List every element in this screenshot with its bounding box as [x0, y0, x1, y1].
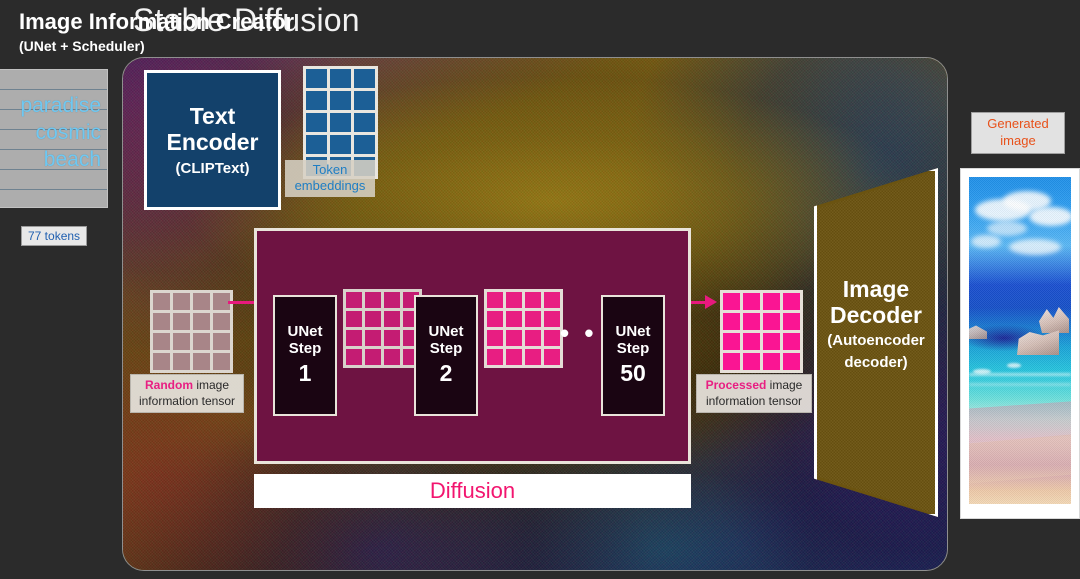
grid-cell — [193, 333, 210, 350]
grid-cell — [173, 313, 190, 330]
text-encoder-subtitle: (CLIPText) — [176, 160, 250, 177]
grid-cell — [153, 293, 170, 310]
text-encoder-block: Text Encoder (CLIPText) — [144, 70, 281, 210]
grid-cell — [506, 330, 522, 346]
grid-cell — [153, 333, 170, 350]
grid-cell — [763, 313, 780, 330]
unet-step-2-block: UNet Step 2 — [414, 295, 478, 416]
grid-cell — [743, 333, 760, 350]
grid-cell — [763, 333, 780, 350]
unet-step-1-line2: Step — [289, 341, 322, 358]
grid-cell — [213, 313, 230, 330]
grid-cell — [384, 330, 400, 346]
generated-image-frame — [960, 168, 1080, 519]
flow-arrow-head-icon — [705, 295, 717, 309]
grid-cell — [783, 313, 800, 330]
grid-cell — [723, 333, 740, 350]
text-encoder-line1: Text — [190, 103, 236, 129]
grid-cell — [723, 353, 740, 370]
image-decoder-subtitle1: (Autoencoder — [814, 332, 938, 349]
grid-cell — [173, 333, 190, 350]
intermediate-tensor-1-grid — [343, 289, 422, 368]
grid-cell — [153, 353, 170, 370]
grid-cell — [306, 135, 327, 154]
grid-cell — [783, 353, 800, 370]
diffusion-label: Diffusion — [430, 478, 515, 504]
grid-cell — [306, 69, 327, 88]
random-tensor-grid — [150, 290, 233, 373]
grid-cell — [544, 349, 560, 365]
image-decoder-block: Image Decoder (Autoencoder decoder) — [814, 168, 938, 517]
grid-cell — [506, 311, 522, 327]
unet-step-2-line2: Step — [430, 341, 463, 358]
grid-cell — [354, 91, 375, 110]
grid-cell — [723, 293, 740, 310]
tokens-badge: 77 tokens — [21, 226, 87, 246]
diagram-canvas: Stable Diffusion paradise cosmic beach 7… — [0, 0, 1080, 579]
processed-tensor-grid — [720, 290, 803, 373]
grid-cell — [173, 353, 190, 370]
grid-cell — [193, 313, 210, 330]
grid-cell — [487, 311, 503, 327]
grid-cell — [525, 349, 541, 365]
intermediate-tensor-2-grid — [484, 289, 563, 368]
grid-cell — [525, 330, 541, 346]
grid-cell — [544, 330, 560, 346]
unet-step-50-block: UNet Step 50 — [601, 295, 665, 416]
random-tensor-label: Random image information tensor — [130, 374, 244, 413]
text-encoder-line2: Encoder — [166, 129, 258, 155]
grid-cell — [153, 313, 170, 330]
grid-cell — [354, 69, 375, 88]
grid-cell — [346, 292, 362, 308]
grid-cell — [384, 349, 400, 365]
image-decoder-text: Image Decoder (Autoencoder decoder) — [814, 276, 938, 371]
grid-cell — [763, 353, 780, 370]
diffusion-bar: Diffusion — [254, 474, 691, 508]
image-decoder-line2: Decoder — [814, 302, 938, 328]
grid-cell — [330, 91, 351, 110]
processed-tensor-label-bold: Processed — [706, 378, 767, 392]
grid-cell — [354, 113, 375, 132]
grid-cell — [365, 330, 381, 346]
grid-cell — [213, 353, 230, 370]
grid-cell — [783, 293, 800, 310]
random-tensor-label-bold: Random — [145, 378, 193, 392]
image-dither-overlay — [969, 177, 1071, 504]
grid-cell — [346, 311, 362, 327]
grid-cell — [743, 313, 760, 330]
grid-cell — [306, 113, 327, 132]
iic-title: Image Information Creator — [19, 9, 294, 35]
grid-cell — [330, 135, 351, 154]
prompt-text: paradise cosmic beach — [20, 92, 101, 173]
token-embeddings-label: Token embeddings — [285, 160, 375, 197]
grid-cell — [330, 69, 351, 88]
grid-cell — [487, 330, 503, 346]
grid-cell — [365, 292, 381, 308]
grid-cell — [330, 113, 351, 132]
grid-cell — [354, 135, 375, 154]
unet-step-1-line1: UNet — [287, 324, 322, 341]
iic-subtitle: (UNet + Scheduler) — [19, 38, 145, 54]
grid-cell — [783, 333, 800, 350]
grid-cell — [193, 293, 210, 310]
grid-cell — [743, 293, 760, 310]
grid-cell — [365, 311, 381, 327]
grid-cell — [346, 349, 362, 365]
generated-image-label: Generated image — [971, 112, 1065, 154]
grid-cell — [384, 311, 400, 327]
grid-cell — [384, 292, 400, 308]
prompt-notepad: paradise cosmic beach — [0, 69, 108, 208]
unet-step-1-block: UNet Step 1 — [273, 295, 337, 416]
grid-cell — [743, 353, 760, 370]
grid-cell — [306, 91, 327, 110]
grid-cell — [213, 333, 230, 350]
grid-cell — [365, 349, 381, 365]
unet-step-50-number: 50 — [620, 360, 646, 387]
grid-cell — [346, 330, 362, 346]
grid-cell — [487, 349, 503, 365]
image-decoder-line1: Image — [814, 276, 938, 302]
image-decoder-subtitle2: decoder) — [814, 354, 938, 371]
grid-cell — [544, 311, 560, 327]
unet-step-50-line1: UNet — [615, 324, 650, 341]
unet-step-1-number: 1 — [299, 360, 312, 387]
grid-cell — [525, 292, 541, 308]
grid-cell — [506, 349, 522, 365]
processed-tensor-label: Processed image information tensor — [696, 374, 812, 413]
grid-cell — [173, 293, 190, 310]
grid-cell — [193, 353, 210, 370]
unet-step-50-line2: Step — [617, 341, 650, 358]
unet-step-2-number: 2 — [440, 360, 453, 387]
grid-cell — [544, 292, 560, 308]
grid-cell — [506, 292, 522, 308]
grid-cell — [723, 313, 740, 330]
grid-cell — [763, 293, 780, 310]
unet-step-2-line1: UNet — [428, 324, 463, 341]
grid-cell — [525, 311, 541, 327]
generated-image — [969, 177, 1071, 504]
grid-cell — [487, 292, 503, 308]
